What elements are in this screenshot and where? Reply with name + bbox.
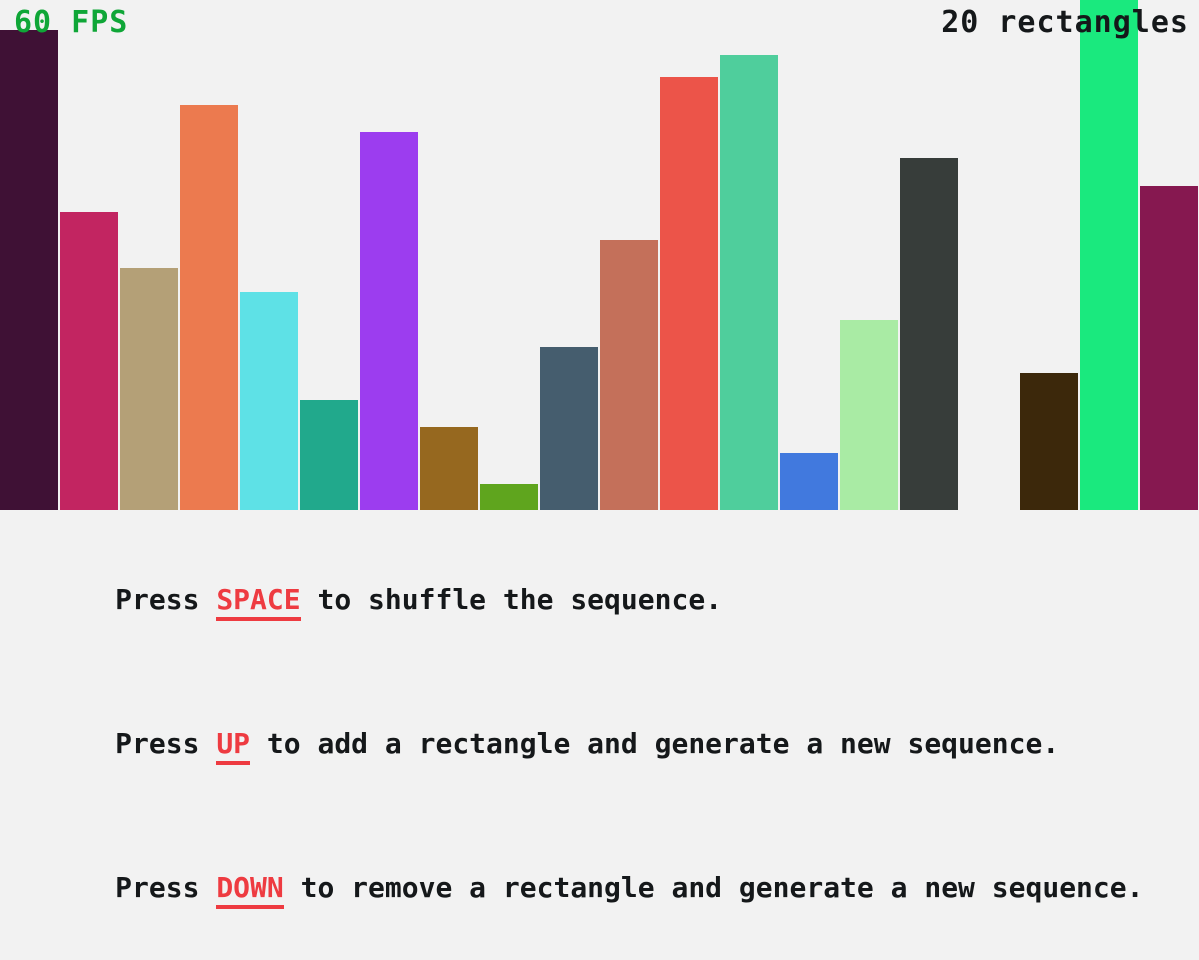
key-space[interactable]: SPACE bbox=[216, 583, 300, 621]
instruction-prefix: Press bbox=[115, 871, 216, 904]
rectangle-count-label: 20 rectangles bbox=[941, 8, 1189, 38]
bar-19-spring-green bbox=[1080, 0, 1138, 510]
instruction-line-add: Press UP to add a rectangle and generate… bbox=[14, 672, 1199, 816]
instruction-suffix: to shuffle the sequence. bbox=[301, 583, 722, 616]
app-root: 60 FPS 20 rectangles Press SPACE to shuf… bbox=[0, 0, 1199, 675]
instruction-line-remove: Press DOWN to remove a rectangle and gen… bbox=[14, 816, 1199, 960]
key-down[interactable]: DOWN bbox=[216, 871, 283, 909]
bar-9-olive-green bbox=[480, 484, 538, 510]
instruction-suffix: to add a rectangle and generate a new se… bbox=[250, 727, 1059, 760]
bar-10-slate-blue bbox=[540, 347, 598, 510]
bar-20-maroon bbox=[1140, 186, 1198, 510]
bar-6-teal bbox=[300, 400, 358, 510]
bar-15-light-green bbox=[840, 320, 898, 510]
bar-18-dark-brown bbox=[1020, 373, 1078, 510]
bar-3-tan bbox=[120, 268, 178, 510]
bar-12-red bbox=[660, 77, 718, 510]
key-up[interactable]: UP bbox=[216, 727, 250, 765]
bar-11-terracotta bbox=[600, 240, 658, 510]
instruction-line-shuffle: Press SPACE to shuffle the sequence. bbox=[14, 528, 1199, 672]
bar-16-charcoal bbox=[900, 158, 958, 510]
bar-4-orange bbox=[180, 105, 238, 510]
bar-7-purple bbox=[360, 132, 418, 510]
rectangle-chart[interactable] bbox=[0, 0, 1199, 510]
instructions-panel: Press SPACE to shuffle the sequence. Pre… bbox=[0, 510, 1199, 675]
bar-14-royal-blue bbox=[780, 453, 838, 510]
fps-counter: 60 FPS bbox=[14, 8, 128, 38]
bar-1-dark-plum bbox=[0, 30, 58, 510]
instruction-prefix: Press bbox=[115, 727, 216, 760]
instruction-suffix: to remove a rectangle and generate a new… bbox=[284, 871, 1144, 904]
bar-13-mint-green bbox=[720, 55, 778, 510]
instruction-prefix: Press bbox=[115, 583, 216, 616]
bar-2-magenta bbox=[60, 212, 118, 510]
bar-8-brown bbox=[420, 427, 478, 510]
bar-5-cyan bbox=[240, 292, 298, 510]
